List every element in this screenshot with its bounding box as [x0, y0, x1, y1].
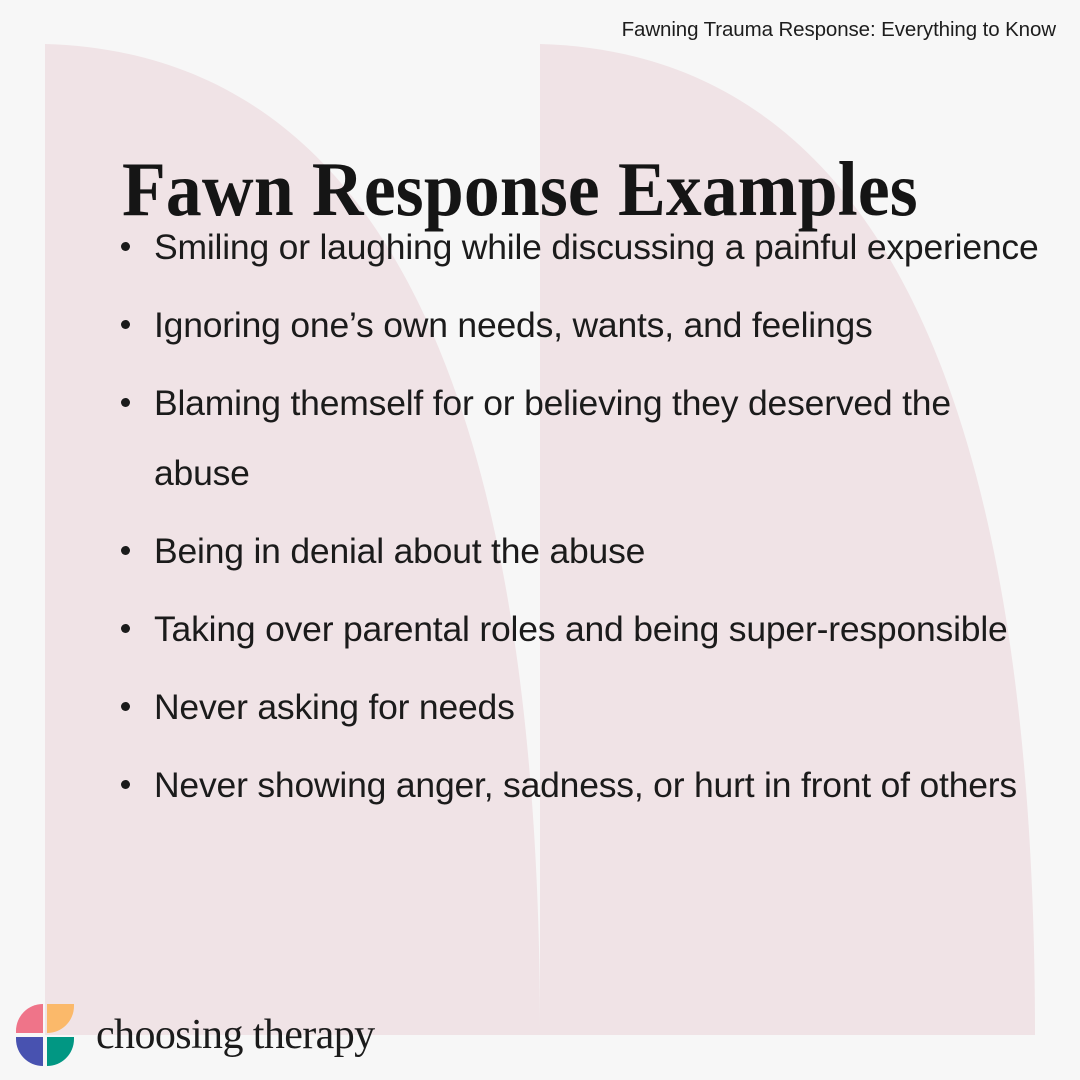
list-item: Taking over parental roles and being sup… [112, 594, 1042, 664]
list-item-label: Taking over parental roles and being sup… [154, 609, 1008, 649]
list-item: Never showing anger, sadness, or hurt in… [112, 750, 1042, 820]
list-item: Ignoring one’s own needs, wants, and fee… [112, 290, 1042, 360]
list-item-label: Ignoring one’s own needs, wants, and fee… [154, 305, 873, 345]
bullet-dot-icon [121, 398, 130, 407]
poster-canvas: Fawning Trauma Response: Everything to K… [0, 0, 1080, 1080]
bullet-dot-icon [121, 546, 130, 555]
bullet-dot-icon [121, 242, 130, 251]
bullet-dot-icon [121, 624, 130, 633]
choosing-therapy-logo-icon [16, 1004, 76, 1066]
article-kicker: Fawning Trauma Response: Everything to K… [622, 18, 1056, 42]
logo-quadrant-top-left [16, 1004, 43, 1033]
list-item: Smiling or laughing while discussing a p… [112, 212, 1042, 282]
list-item-label: Never asking for needs [154, 687, 515, 727]
list-item: Being in denial about the abuse [112, 516, 1042, 586]
list-item: Never asking for needs [112, 672, 1042, 742]
logo-quadrant-top-right [47, 1004, 74, 1033]
fawn-response-examples-list: Smiling or laughing while discussing a p… [112, 212, 1042, 828]
list-item-label: Smiling or laughing while discussing a p… [154, 227, 1039, 267]
bullet-dot-icon [121, 780, 130, 789]
list-item-label: Never showing anger, sadness, or hurt in… [154, 765, 1017, 805]
brand-logo[interactable]: choosing therapy [16, 1004, 375, 1066]
list-item-label: Blaming themself for or believing they d… [154, 383, 951, 493]
logo-quadrant-bottom-right [47, 1037, 74, 1066]
list-item: Blaming themself for or believing they d… [112, 368, 1042, 508]
brand-wordmark: choosing therapy [96, 1014, 375, 1056]
list-item-label: Being in denial about the abuse [154, 531, 645, 571]
bullet-dot-icon [121, 320, 130, 329]
logo-quadrant-bottom-left [16, 1037, 43, 1066]
bullet-dot-icon [121, 702, 130, 711]
